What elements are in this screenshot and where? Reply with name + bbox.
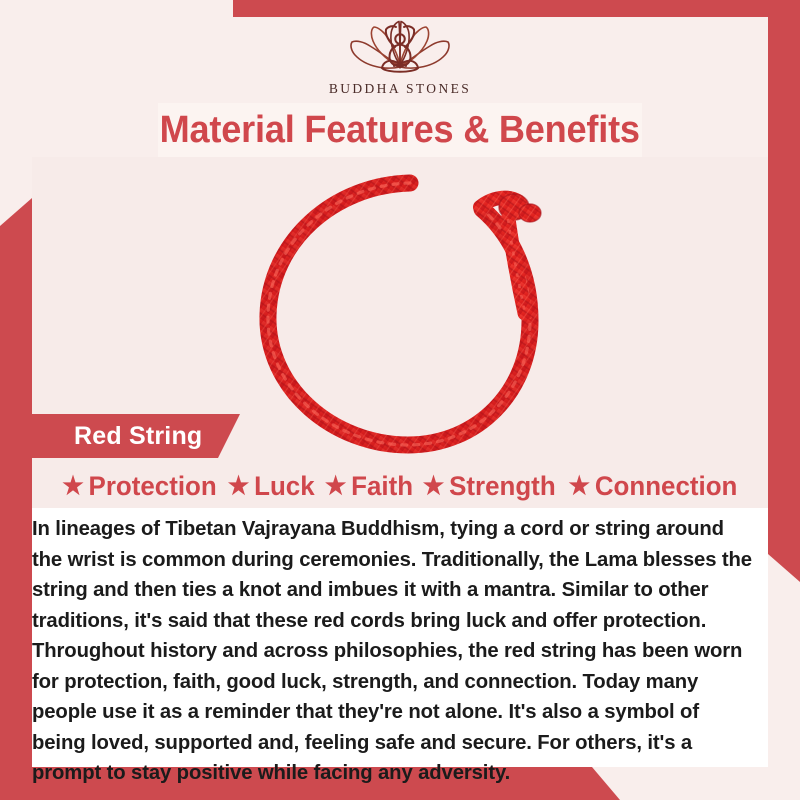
- benefit-keyword: ★ Strength: [423, 473, 556, 500]
- star-icon: ★: [423, 474, 445, 499]
- title-band: Material Features & Benefits: [158, 103, 642, 157]
- decorative-frame-top: [233, 0, 800, 17]
- benefit-keyword-label: Connection: [595, 473, 738, 500]
- red-string-bracelet-image: [242, 163, 572, 463]
- page-title: Material Features & Benefits: [160, 111, 640, 149]
- star-icon: ★: [228, 474, 250, 499]
- brand-name: BUDDHA STONES: [329, 81, 471, 97]
- benefit-keyword: ★ Faith: [324, 473, 412, 500]
- description-text: In lineages of Tibetan Vajrayana Buddhis…: [32, 514, 752, 789]
- benefit-keyword: ★ Protection: [62, 473, 217, 500]
- star-icon: ★: [324, 474, 346, 499]
- star-icon: ★: [62, 474, 84, 499]
- decorative-frame-left: [0, 198, 32, 800]
- description-panel: In lineages of Tibetan Vajrayana Buddhis…: [32, 508, 768, 767]
- ribbon-label: Red String: [74, 422, 202, 451]
- benefit-keyword-label: Protection: [89, 473, 217, 500]
- brand-logo: BUDDHA STONES: [0, 18, 800, 104]
- benefit-keyword: ★ Connection: [568, 473, 737, 500]
- section-ribbon: Red String: [32, 414, 240, 458]
- infographic-page: BUDDHA STONES Material Features & Benefi…: [0, 0, 800, 800]
- benefit-keyword-list: ★ Protection ★ Luck ★ Faith ★ Strength ★…: [32, 466, 768, 506]
- star-icon: ★: [568, 474, 590, 499]
- benefit-keyword-label: Strength: [450, 473, 557, 500]
- benefit-keyword-label: Luck: [254, 473, 315, 500]
- lotus-meditation-icon: [340, 18, 460, 80]
- benefit-keyword: ★ Luck: [228, 473, 315, 500]
- benefit-keyword-label: Faith: [351, 473, 413, 500]
